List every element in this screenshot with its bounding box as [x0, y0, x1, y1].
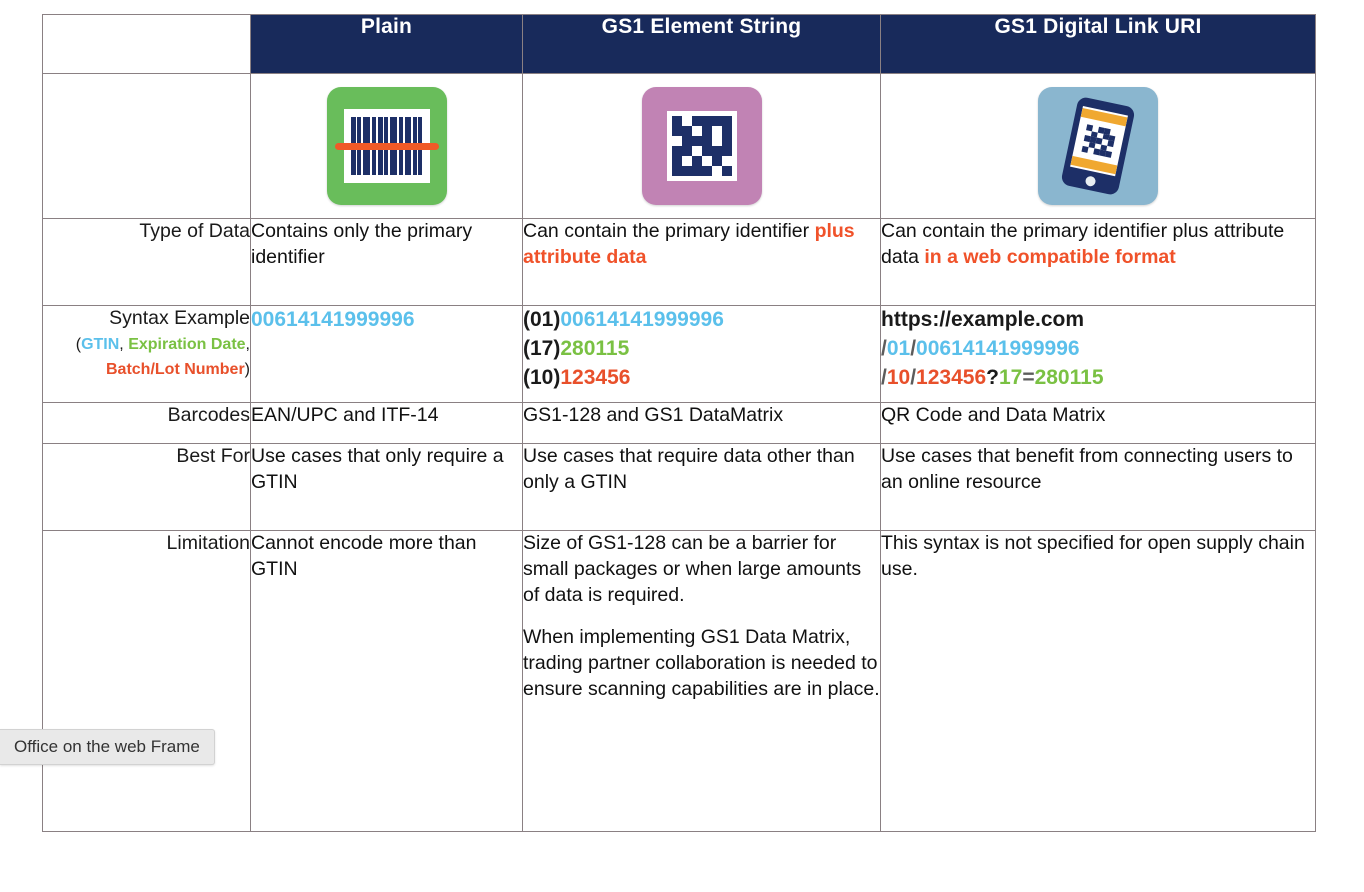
cell-limitation-plain: Cannot encode more than GTIN: [251, 531, 523, 832]
element-string-line-1: (01)00614141999996: [523, 306, 880, 335]
legend-batch-lot-number: Batch/Lot Number: [106, 361, 245, 378]
icon-cell-digital-link: [881, 74, 1316, 219]
element-string-line-2: (17)280115: [523, 335, 880, 364]
value-expiration: 280115: [560, 337, 629, 360]
table-row-barcodes: Barcodes EAN/UPC and ITF-14 GS1-128 and …: [43, 403, 1316, 444]
cell-best-for-plain: Use cases that only require a GTIN: [251, 444, 523, 531]
text-plain-part: Can contain the primary identifier: [523, 220, 815, 242]
cell-barcodes-element-string: GS1-128 and GS1 DataMatrix: [523, 403, 881, 444]
text-highlight-part: in a web compatible format: [924, 246, 1175, 268]
query-mark: ?: [986, 366, 999, 389]
syntax-element-string-lines: (01)00614141999996 (17)280115 (10)123456: [523, 306, 880, 393]
datamatrix-icon: [642, 87, 762, 205]
cell-type-of-data-plain: Contains only the primary identifier: [251, 219, 523, 306]
legend-comma-2: ,: [246, 336, 250, 353]
legend-comma-1: ,: [119, 336, 128, 353]
column-header-plain: Plain: [251, 15, 523, 74]
equals-sign: =: [1022, 366, 1034, 389]
icon-row-blank: [43, 74, 251, 219]
cell-barcodes-digital-link: QR Code and Data Matrix: [881, 403, 1316, 444]
ai-17: (17): [523, 337, 560, 360]
row-sublabel-legend: (GTIN, Expiration Date, Batch/Lot Number…: [76, 336, 250, 378]
element-string-line-3: (10)123456: [523, 364, 880, 393]
table-row-syntax-example: Syntax Example (GTIN, Expiration Date, B…: [43, 306, 1316, 403]
cell-type-of-data-digital-link: Can contain the primary identifier plus …: [881, 219, 1316, 306]
page-root: Plain GS1 Element String GS1 Digital Lin…: [0, 0, 1364, 892]
value-gtin: 00614141999996: [916, 337, 1080, 360]
cell-syntax-element-string: (01)00614141999996 (17)280115 (10)123456: [523, 306, 881, 403]
row-label-syntax-example: Syntax Example (GTIN, Expiration Date, B…: [43, 306, 251, 403]
cell-type-of-data-element-string: Can contain the primary identifier plus …: [523, 219, 881, 306]
value-expiration: 280115: [1035, 366, 1104, 389]
syntax-plain-value: 00614141999996: [251, 308, 415, 331]
legend-gtin: GTIN: [81, 336, 119, 353]
value-batch: 123456: [916, 366, 986, 389]
ai-10: (10): [523, 366, 560, 389]
row-label-barcodes: Barcodes: [43, 403, 251, 444]
digital-link-batch-path: /10/123456?17=280115: [881, 364, 1315, 393]
row-label-text: Syntax Example: [43, 306, 250, 331]
cell-barcodes-plain: EAN/UPC and ITF-14: [251, 403, 523, 444]
limitation-paragraph-1: Size of GS1-128 can be a barrier for sma…: [523, 531, 880, 609]
ai-01: (01): [523, 308, 560, 331]
column-header-element-string: GS1 Element String: [523, 15, 881, 74]
cell-syntax-plain: 00614141999996: [251, 306, 523, 403]
table-row-limitation: Limitation Cannot encode more than GTIN …: [43, 531, 1316, 832]
syntax-digital-link-lines: https://example.com /01/00614141999996 /…: [881, 306, 1315, 393]
legend-close-paren: ): [245, 361, 250, 378]
value-batch: 123456: [560, 366, 630, 389]
value-gtin: 00614141999996: [560, 308, 724, 331]
column-header-digital-link: GS1 Digital Link URI: [881, 15, 1316, 74]
row-label-type-of-data: Type of Data: [43, 219, 251, 306]
barcode-icon: [327, 87, 447, 205]
ai-17: 17: [999, 366, 1022, 389]
table-icon-row: [43, 74, 1316, 219]
table-header-row: Plain GS1 Element String GS1 Digital Lin…: [43, 15, 1316, 74]
icon-cell-element-string: [523, 74, 881, 219]
digital-link-domain: https://example.com: [881, 306, 1315, 335]
legend-expiration-date: Expiration Date: [128, 336, 245, 353]
cell-syntax-digital-link: https://example.com /01/00614141999996 /…: [881, 306, 1316, 403]
cell-best-for-element-string: Use cases that require data other than o…: [523, 444, 881, 531]
table-row-type-of-data: Type of Data Contains only the primary i…: [43, 219, 1316, 306]
cell-limitation-element-string: Size of GS1-128 can be a barrier for sma…: [523, 531, 881, 832]
phone-scan-icon: [1038, 87, 1158, 205]
ai-10: 10: [887, 366, 910, 389]
row-label-best-for: Best For: [43, 444, 251, 531]
frame-tooltip-label: Office on the web Frame: [14, 737, 200, 757]
table-row-best-for: Best For Use cases that only require a G…: [43, 444, 1316, 531]
frame-tooltip: Office on the web Frame: [0, 729, 215, 765]
header-corner-blank: [43, 15, 251, 74]
digital-link-gtin-path: /01/00614141999996: [881, 335, 1315, 364]
icon-cell-plain: [251, 74, 523, 219]
row-label-limitation: Limitation: [43, 531, 251, 832]
gs1-syntax-comparison-table: Plain GS1 Element String GS1 Digital Lin…: [42, 14, 1316, 832]
ai-01: 01: [887, 337, 910, 360]
limitation-paragraph-2: When implementing GS1 Data Matrix, tradi…: [523, 625, 880, 703]
cell-limitation-digital-link: This syntax is not specified for open su…: [881, 531, 1316, 832]
cell-best-for-digital-link: Use cases that benefit from connecting u…: [881, 444, 1316, 531]
